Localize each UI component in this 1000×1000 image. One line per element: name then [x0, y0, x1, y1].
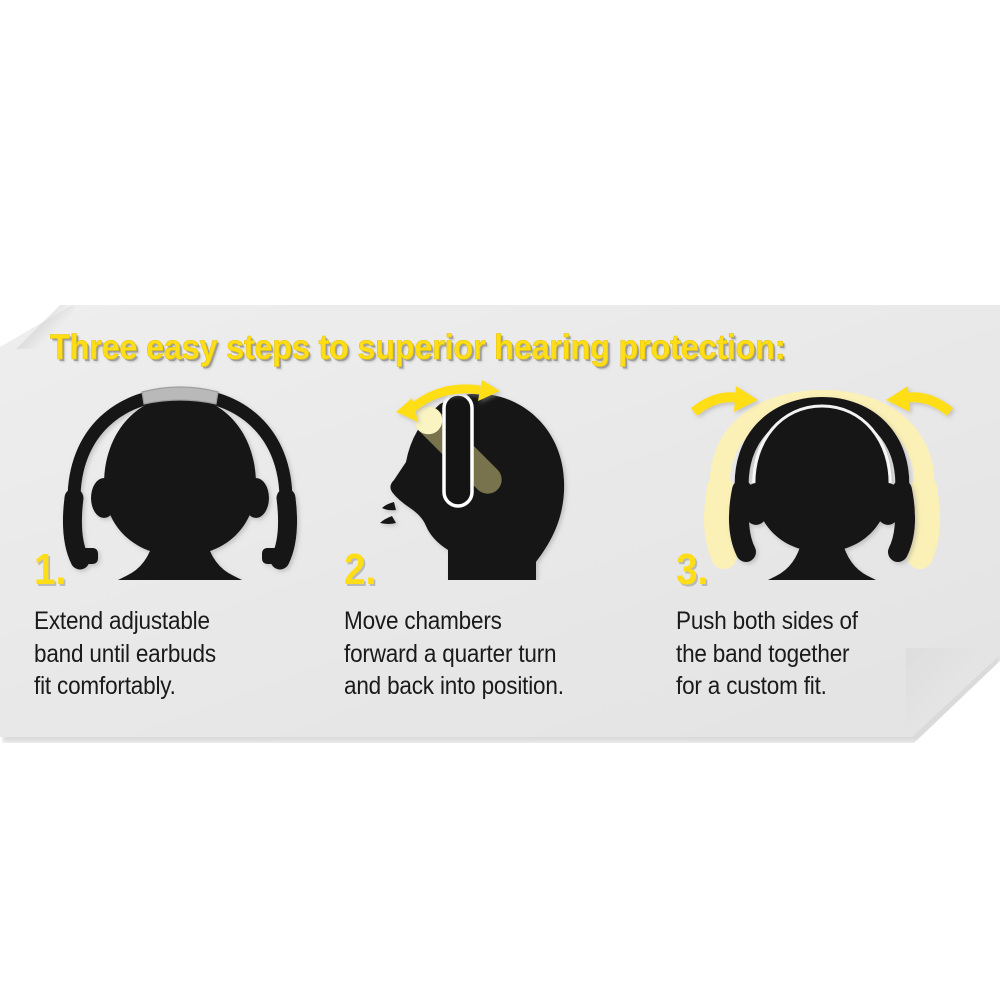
- step-3-illustration: [672, 380, 972, 580]
- poster-canvas: Three easy steps to superior hearing pro…: [0, 0, 1000, 1000]
- ear-left-shape: [742, 483, 770, 525]
- chamber-upright: [444, 394, 472, 506]
- push-arrow-left: [694, 386, 758, 412]
- step-text-2: Move chambers forward a quarter turn and…: [344, 605, 610, 703]
- step-2-line-2: forward a quarter turn: [344, 638, 610, 671]
- step-1-line-2: band until earbuds: [34, 638, 300, 671]
- earbud-chamber-right: [262, 548, 282, 564]
- step-2-line-1: Move chambers: [344, 605, 610, 638]
- step-2-line-3: and back into position.: [344, 670, 610, 703]
- push-arrow-right: [886, 386, 950, 412]
- lip-shape: [382, 502, 396, 510]
- band-ghost-arm-left: [717, 488, 724, 556]
- head-rear-shape: [104, 396, 256, 556]
- step-number-3: 3.: [676, 548, 708, 592]
- step-column-3: 3. Push both sides of the band together …: [672, 380, 972, 720]
- push-arrow-right-shaft: [906, 397, 950, 412]
- step-3-line-3: for a custom fit.: [676, 670, 942, 703]
- earbud-chamber-left: [78, 548, 98, 564]
- step-3-line-1: Push both sides of: [676, 605, 942, 638]
- ear-right-shape: [874, 483, 902, 525]
- step-1-illustration: [30, 380, 330, 580]
- step-1-line-1: Extend adjustable: [34, 605, 300, 638]
- ear-right-shape: [243, 478, 269, 518]
- page-title: Three easy steps to superior hearing pro…: [50, 328, 906, 368]
- step-column-1: 1. Extend adjustable band until earbuds …: [30, 380, 330, 720]
- chin-shape: [380, 516, 396, 524]
- step-text-3: Push both sides of the band together for…: [676, 605, 942, 703]
- ear-left-shape: [91, 478, 117, 518]
- step-number-1: 1.: [34, 548, 66, 592]
- step-1-line-3: fit comfortably.: [34, 670, 300, 703]
- step-column-2: 2. Move chambers forward a quarter turn …: [340, 380, 640, 720]
- band-ghost-arm-right: [920, 488, 927, 556]
- step-text-1: Extend adjustable band until earbuds fit…: [34, 605, 300, 703]
- step-3-line-2: the band together: [676, 638, 942, 671]
- push-arrow-left-shaft: [694, 397, 738, 412]
- step-number-2: 2.: [344, 548, 376, 592]
- step-2-illustration: [340, 380, 640, 580]
